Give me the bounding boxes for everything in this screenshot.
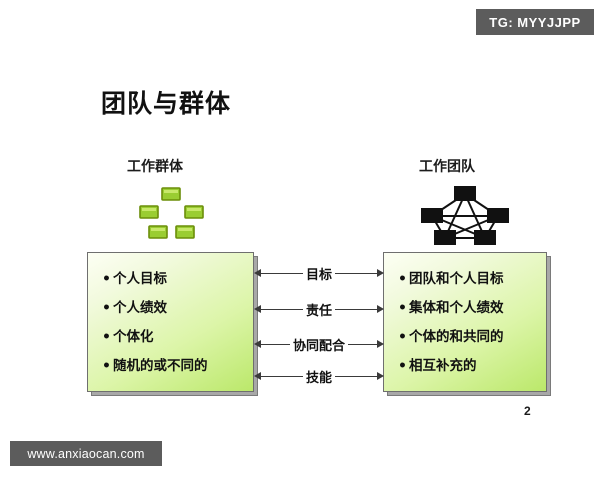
- list-item: 个人目标: [102, 272, 253, 287]
- list-item: 团队和个人目标: [398, 272, 546, 287]
- connector-label: 技能: [303, 367, 335, 386]
- work-group-panel: 个人目标 个人绩效 个体化 随机的或不同的: [87, 252, 254, 392]
- arrow-right-icon: [377, 305, 384, 313]
- connector-label: 目标: [303, 264, 335, 283]
- comparison-connectors: 目标 责任 协同配合 技能: [254, 252, 384, 392]
- connector-label: 协同配合: [290, 335, 348, 354]
- connector-label: 责任: [303, 300, 335, 319]
- connector-row: 目标: [254, 263, 384, 283]
- connector-row: 技能: [254, 366, 384, 386]
- work-group-bullet-list: 个人目标 个人绩效 个体化 随机的或不同的: [102, 265, 253, 381]
- arrow-left-icon: [254, 269, 261, 277]
- connector-row: 责任: [254, 299, 384, 319]
- scattered-nodes-icon: [118, 186, 228, 244]
- arrow-left-icon: [254, 340, 261, 348]
- connected-network-svg: [412, 184, 522, 246]
- list-item: 随机的或不同的: [102, 359, 253, 374]
- list-item: 相互补充的: [398, 359, 546, 374]
- tg-watermark-badge: TG: MYYJJPP: [476, 9, 594, 35]
- page-number: 2: [524, 404, 531, 418]
- site-watermark-badge: www.anxiaocan.com: [10, 441, 162, 466]
- connector-row: 协同配合: [254, 334, 384, 354]
- work-team-bullet-list: 团队和个人目标 集体和个人绩效 个体的和共同的 相互补充的: [398, 265, 546, 381]
- work-team-panel: 团队和个人目标 集体和个人绩效 个体的和共同的 相互补充的: [383, 252, 547, 392]
- connected-network-icon: [412, 184, 522, 242]
- arrow-right-icon: [377, 340, 384, 348]
- page-title: 团队与群体: [101, 84, 231, 120]
- list-item: 个体的和共同的: [398, 330, 546, 345]
- list-item: 个人绩效: [102, 301, 253, 316]
- column-heading-work-team: 工作团队: [419, 156, 475, 176]
- list-item: 个体化: [102, 330, 253, 345]
- column-heading-work-group: 工作群体: [127, 156, 183, 176]
- scattered-nodes-svg: [118, 186, 228, 244]
- arrow-left-icon: [254, 372, 261, 380]
- list-item: 集体和个人绩效: [398, 301, 546, 316]
- arrow-right-icon: [377, 372, 384, 380]
- arrow-right-icon: [377, 269, 384, 277]
- arrow-left-icon: [254, 305, 261, 313]
